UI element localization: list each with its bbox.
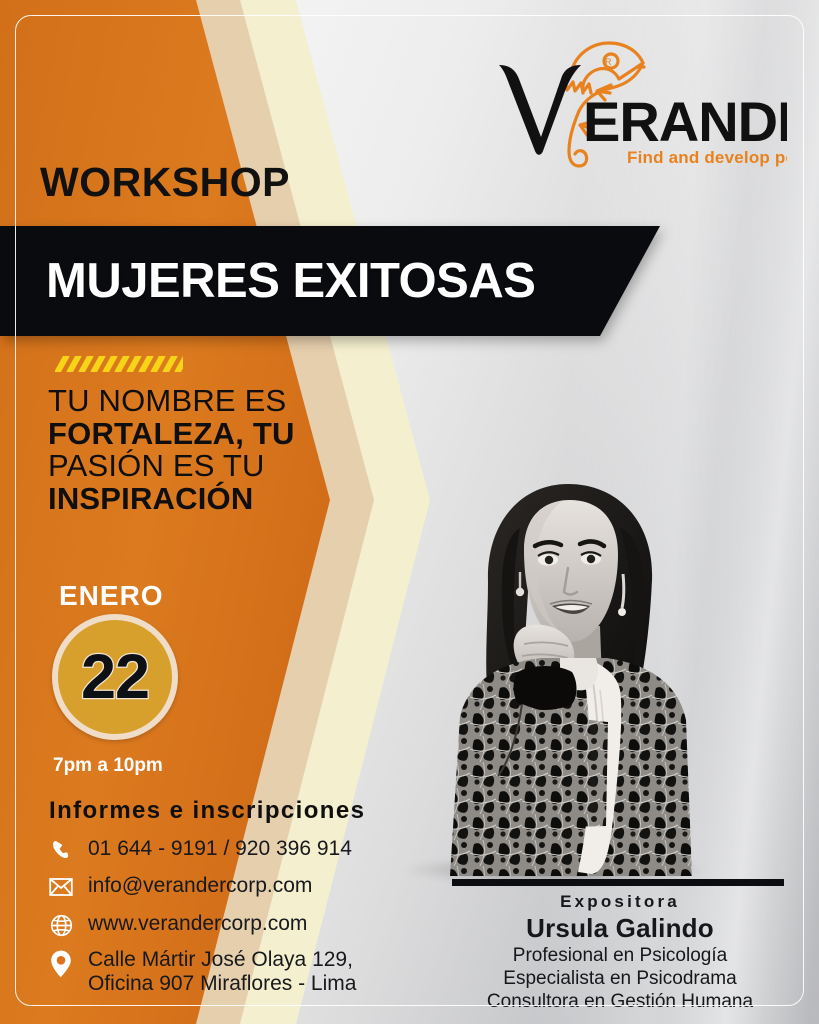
speaker-credential-1: Profesional en Psicología — [440, 945, 800, 967]
event-day-number: 22 — [81, 646, 149, 709]
speaker-name: Ursula Galindo — [440, 913, 800, 944]
event-month: ENERO — [59, 580, 164, 612]
hatch-stripes-decoration — [55, 356, 183, 372]
speaker-portrait — [392, 476, 722, 886]
contact-row-address[interactable]: Calle Mártir José Olaya 129, Oficina 907… — [48, 948, 356, 995]
svg-text:R: R — [605, 57, 612, 67]
contact-row-phone[interactable]: 01 644 - 9191 / 920 396 914 — [48, 837, 352, 861]
eyebrow-workshop: WORKSHOP — [40, 159, 290, 206]
location-pin-icon — [48, 948, 74, 977]
contact-row-website[interactable]: www.verandercorp.com — [48, 912, 307, 937]
poster-canvas: R ERANDER Find and develop people ERANDE… — [0, 0, 819, 1024]
contact-row-email[interactable]: info@verandercorp.com — [48, 874, 312, 898]
event-hours: 7pm a 10pm — [53, 755, 163, 777]
logo-tagline-text: Find and develop people — [627, 148, 787, 167]
speaker-role: Expositora — [440, 892, 800, 912]
contact-heading: Informes e inscripciones — [49, 797, 365, 825]
speaker-divider-bar — [452, 879, 784, 886]
event-day-badge: 22 — [52, 614, 178, 740]
phone-icon — [48, 837, 74, 861]
veranger-logo: R ERANDER Find and develop people — [487, 33, 787, 168]
speaker-credential-3: Consultora en Gestión Humana — [440, 991, 800, 1013]
speaker-info-block: Expositora Ursula Galindo Profesional en… — [440, 892, 800, 1014]
contact-email-text: info@verandercorp.com — [88, 874, 312, 898]
envelope-icon — [48, 874, 74, 898]
slogan-line-4: INSPIRACIÓN — [48, 483, 348, 516]
contact-phone-text: 01 644 - 9191 / 920 396 914 — [88, 837, 352, 861]
contact-website-text: www.verandercorp.com — [88, 912, 307, 936]
slogan-line-1: TU NOMBRE ES — [48, 385, 348, 418]
speaker-credential-2: Especialista en Psicodrama — [440, 968, 800, 990]
page-title: MUJERES EXITOSAS — [46, 253, 535, 309]
slogan-block: TU NOMBRE ES FORTALEZA, TU PASIÓN ES TU … — [48, 385, 348, 515]
logo-wordmark-text: ERANDER — [583, 90, 787, 153]
slogan-line-3: PASIÓN ES TU — [48, 450, 348, 483]
globe-icon — [48, 912, 74, 937]
slogan-line-2: FORTALEZA, TU — [48, 418, 348, 451]
contact-address-text: Calle Mártir José Olaya 129, Oficina 907… — [88, 948, 356, 995]
